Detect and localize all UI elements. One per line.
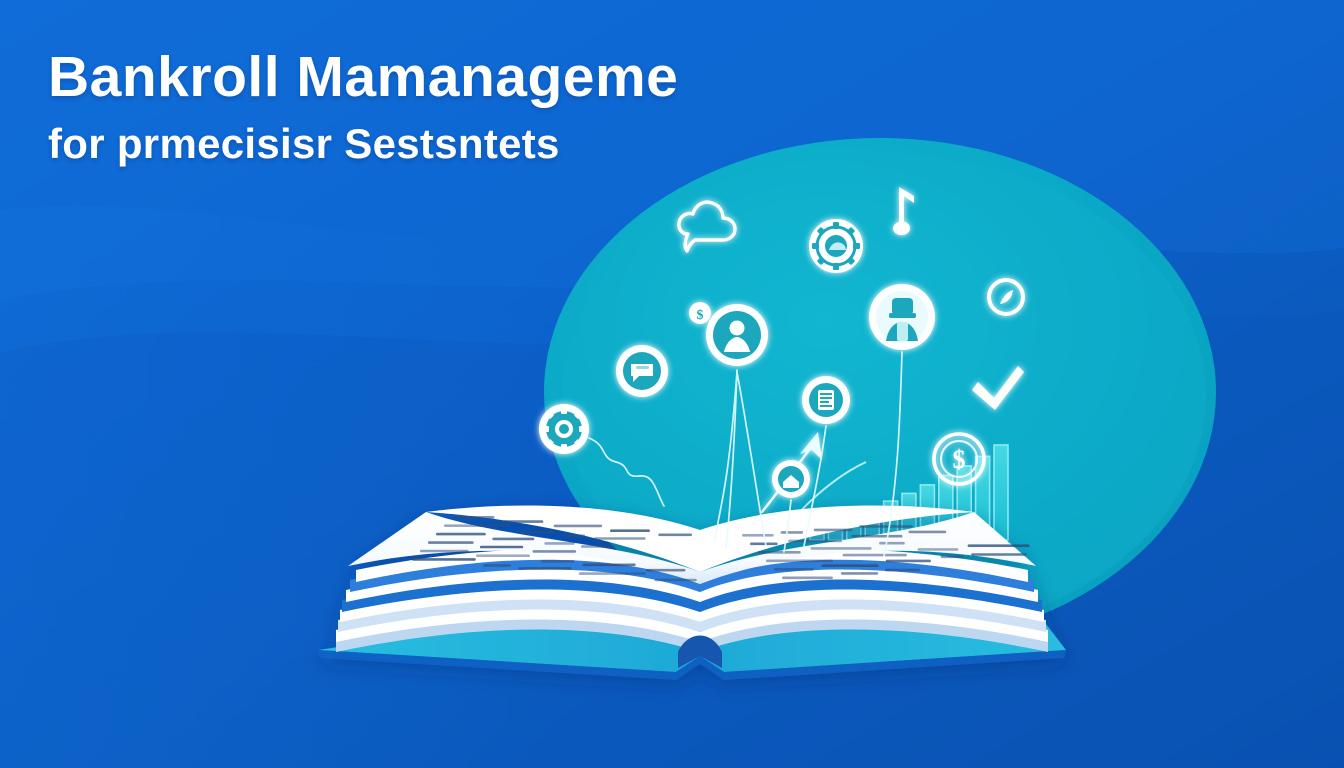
page-text-line-segment: [750, 543, 778, 546]
home-cloud-icon[interactable]: [772, 460, 810, 498]
page-text-line-segment: [742, 534, 774, 537]
bar-chart-bar: [994, 445, 1008, 540]
page-text-line-segment: [541, 560, 575, 563]
page-text-line-segment: [851, 535, 902, 538]
svg-text:$: $: [953, 445, 966, 474]
page-text-line-segment: [444, 524, 510, 527]
page-text-line-segment: [766, 560, 833, 563]
floating-icons: $: [539, 187, 1024, 498]
user-avatar-icon[interactable]: [706, 304, 768, 366]
page-text-line-segment: [518, 567, 571, 570]
page-text-line-segment: [758, 551, 801, 554]
page-text-line-segment: [879, 542, 905, 545]
page-text-line-segment: [781, 531, 804, 534]
page-text-line-segment: [971, 553, 1027, 556]
money-circle-icon[interactable]: $: [934, 434, 984, 484]
hero-illustration-canvas: $: [0, 0, 1344, 768]
page-text-line-segment: [843, 554, 907, 557]
svg-text:$: $: [697, 308, 704, 323]
page-text-line-segment: [452, 516, 494, 519]
page-text-line-segment: [941, 556, 964, 559]
chat-bubble-icon[interactable]: [616, 345, 668, 397]
graduate-person-icon[interactable]: [869, 284, 935, 350]
page-text-line-segment: [544, 542, 574, 545]
page-text-line-segment: [918, 548, 959, 551]
page-text-line-segment: [841, 572, 878, 575]
cloud-icon[interactable]: [679, 202, 735, 251]
page-text-line-segment: [503, 520, 543, 523]
illustration-layer: $: [0, 0, 1344, 768]
document-list-icon[interactable]: [802, 376, 850, 424]
squiggle-string-cog: [589, 438, 640, 476]
page-text-line-segment: [554, 525, 603, 528]
page-text-line-segment: [420, 550, 469, 553]
page-text-line-segment: [412, 558, 476, 561]
page-text-line-segment: [436, 533, 486, 536]
page-text-line-segment: [859, 525, 913, 528]
page-text-line-segment: [655, 579, 697, 582]
page-text-line-segment: [476, 554, 530, 557]
squiggle-string-cog-tail: [640, 476, 664, 506]
page-text-line-segment: [968, 544, 1030, 547]
page-text-line-segment: [520, 531, 554, 534]
page-text-line-segment: [483, 564, 511, 567]
page-text-line-segment: [909, 531, 947, 534]
page-text-line-segment: [583, 564, 636, 567]
page-text-line-segment: [480, 546, 523, 549]
page-text-line-segment: [821, 564, 878, 567]
page-text-line-segment: [788, 540, 842, 543]
page-text-line-segment: [646, 569, 685, 572]
page-text-line-segment: [610, 529, 650, 532]
page-text-line-segment: [814, 529, 853, 532]
cog-wheel-icon[interactable]: [539, 404, 589, 454]
page-text-line-segment: [594, 537, 646, 540]
open-book: [318, 506, 1066, 680]
page-text-line-segment: [886, 560, 931, 563]
page-text-line-segment: [774, 568, 814, 571]
page-text-line-segment: [658, 534, 692, 537]
checkmark-icon[interactable]: [972, 366, 1024, 410]
page-text-line-segment: [581, 545, 615, 548]
page-text-line-segment: [533, 550, 577, 553]
music-note-icon[interactable]: [893, 187, 914, 235]
page-text-line-segment: [811, 547, 872, 550]
page-text-line-segment: [782, 577, 833, 580]
page-text-line-segment: [492, 538, 534, 541]
gear-icon[interactable]: [809, 219, 863, 273]
compass-icon[interactable]: [989, 280, 1023, 314]
dollar-coin-icon[interactable]: $: [689, 302, 711, 324]
page-text-line-segment: [579, 572, 646, 575]
page-text-line-segment: [885, 569, 920, 572]
page-text-line-segment: [428, 541, 474, 544]
page-text-line-segment: [562, 534, 585, 537]
